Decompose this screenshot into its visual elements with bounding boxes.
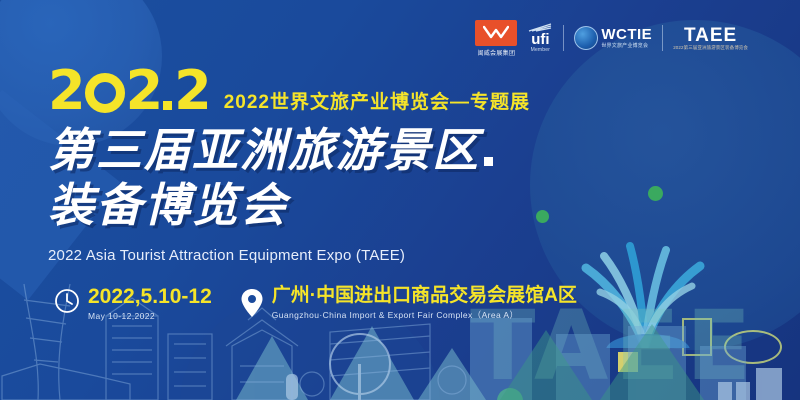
headline-accent-dot xyxy=(484,157,493,166)
year-digit-2c: 2 xyxy=(174,64,210,118)
partner-logo-strip: 闽威会展集团 ufi Member WCTIE 世界文旅产业博览会 TAEE 2… xyxy=(475,18,748,58)
decorative-dot-green-b xyxy=(648,186,663,201)
wind-group-caption: 闽威会展集团 xyxy=(477,48,515,57)
event-date-secondary: May 10-12,2022 xyxy=(88,311,212,321)
event-venue-item: 广州·中国进出口商品交易会展馆A区 Guangzhou·China Import… xyxy=(240,286,577,321)
logo-taee: TAEE 2022第三届亚洲旅游景区装备博览会 xyxy=(673,26,748,51)
globe-icon xyxy=(574,26,598,50)
year-digit-0 xyxy=(85,73,125,113)
hero-subtitle-en: 2022 Asia Tourist Attraction Equipment E… xyxy=(48,247,648,264)
decorative-ring-yellow xyxy=(724,330,782,364)
hero-headline-line1: 第三届亚洲旅游景区 xyxy=(48,124,648,177)
decorative-year-outline-secondary: 2022 xyxy=(789,0,800,188)
wctie-caption: 世界文旅产业博览会 xyxy=(601,42,652,49)
logo-ufi: ufi Member xyxy=(527,23,553,53)
logo-divider-2 xyxy=(662,25,663,51)
taee-mark: TAEE xyxy=(684,26,737,45)
taee-caption: 2022第三届亚洲旅游景区装备博览会 xyxy=(673,45,748,51)
year-digit-2b: 2 xyxy=(126,64,162,118)
wctie-mark: WCTIE xyxy=(601,27,652,42)
map-pin-icon xyxy=(240,288,264,318)
year-separator-dot xyxy=(163,101,172,110)
decorative-dot-green-c xyxy=(497,388,523,400)
logo-wctie: WCTIE 世界文旅产业博览会 xyxy=(574,26,652,50)
wind-group-mark xyxy=(475,20,517,46)
logo-divider-1 xyxy=(563,25,564,51)
clock-icon xyxy=(54,288,80,314)
event-date-item: 2022,5.10-12 May 10-12,2022 xyxy=(54,286,212,321)
hero-subtitle-cn: 2022世界文旅产业博览会—专题展 xyxy=(224,87,530,114)
year-digit-2a: 2 xyxy=(48,64,84,118)
wings-icon xyxy=(483,25,509,41)
decorative-square-yellow xyxy=(618,352,638,372)
logo-wind-group: 闽威会展集团 xyxy=(475,20,517,57)
ufi-mark: ufi xyxy=(531,32,549,47)
decorative-square-outline xyxy=(682,318,712,356)
event-venue-primary: 广州·中国进出口商品交易会展馆A区 xyxy=(272,286,577,306)
hero-headline-line2: 装备博览会 xyxy=(48,179,648,232)
year-logo-2022: 2 2 2 xyxy=(48,64,210,118)
event-date-primary: 2022,5.10-12 xyxy=(88,286,212,308)
ufi-caption: Member xyxy=(531,47,551,53)
event-banner: 2022 2022 TAEE xyxy=(0,0,800,400)
event-info-row: 2022,5.10-12 May 10-12,2022 广州·中国进出口商品交易… xyxy=(54,286,577,321)
event-venue-secondary: Guangzhou·China Import & Export Fair Com… xyxy=(272,309,577,321)
hero-content: 2 2 2 2022世界文旅产业博览会—专题展 第三届亚洲旅游景区 装备博览会 … xyxy=(48,64,648,264)
hero-headline-line1-text: 第三届亚洲旅游景区 xyxy=(48,124,480,176)
hero-year-row: 2 2 2 2022世界文旅产业博览会—专题展 xyxy=(48,64,648,118)
